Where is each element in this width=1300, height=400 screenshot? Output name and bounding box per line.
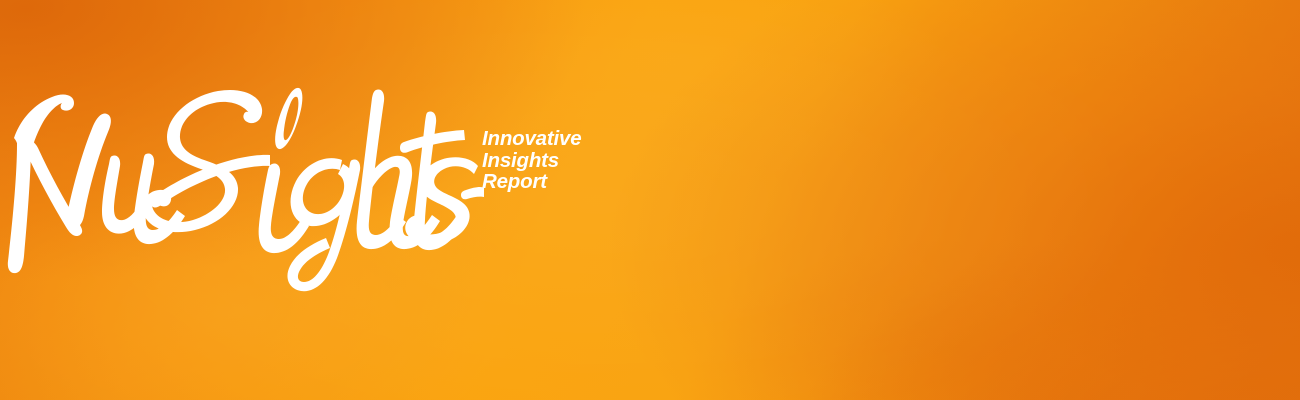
- nusights-wordmark: [4, 78, 484, 293]
- tagline: Innovative Insights Report: [482, 128, 612, 193]
- report-banner: Innovative Insights Report: [0, 0, 1300, 400]
- tagline-line-2: Insights: [482, 150, 612, 172]
- tagline-line-3: Report: [482, 171, 612, 193]
- tagline-line-1: Innovative: [482, 128, 612, 150]
- logo-lockup: Innovative Insights Report: [0, 0, 620, 300]
